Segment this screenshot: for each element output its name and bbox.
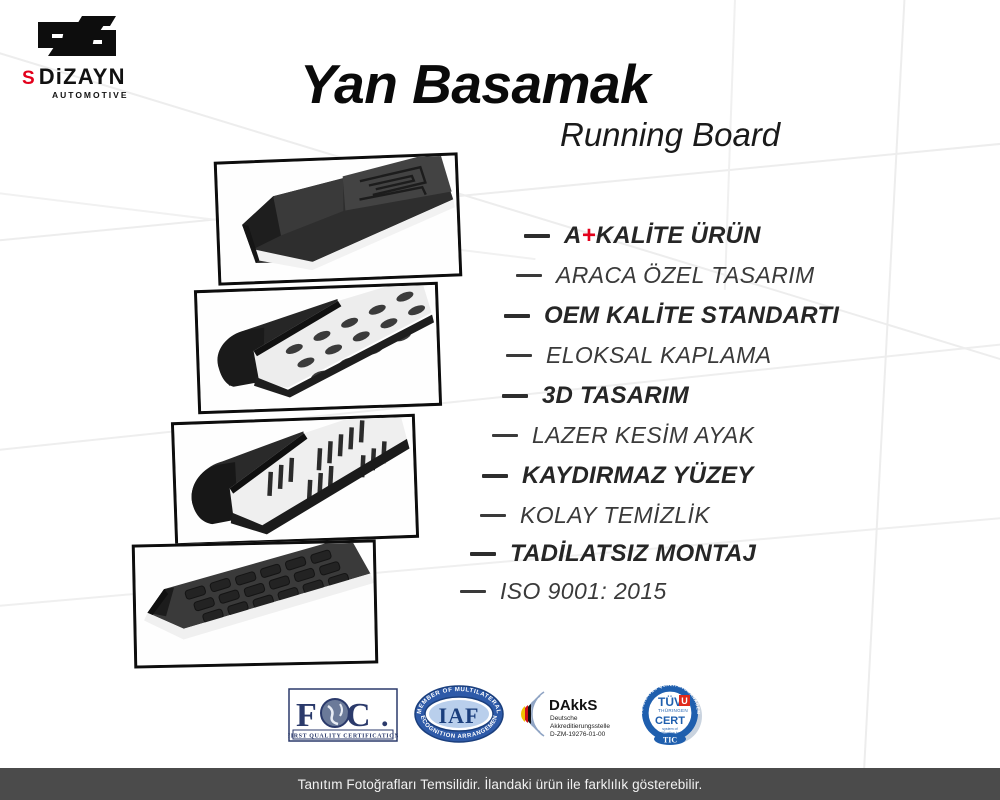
brand-initial: S — [22, 69, 35, 88]
feature-label: ARACA ÖZEL TASARIM — [556, 262, 815, 289]
feature-label: OEM KALİTE STANDARTI — [544, 302, 839, 330]
feature-item-8: KOLAY TEMİZLİK — [480, 502, 710, 529]
svg-text:Deutsche: Deutsche — [550, 715, 578, 722]
dash-bullet-icon — [460, 590, 486, 594]
dash-bullet-icon — [482, 474, 508, 478]
fqc-badge: F C . FIRST QUALITY CERTIFICATION — [288, 688, 398, 742]
svg-text:Akkreditierungsstelle: Akkreditierungsstelle — [550, 723, 610, 730]
brand-tagline: AUTOMOTIVE — [52, 90, 129, 100]
svg-text:TÜV: TÜV — [658, 694, 682, 709]
svg-text:D-ZM-19276-01-00: D-ZM-19276-01-00 — [550, 731, 606, 738]
s-monogram-icon — [32, 14, 122, 69]
feature-label: ISO 9001: 2015 — [500, 578, 667, 605]
svg-text:THÜRINGEN: THÜRINGEN — [658, 707, 688, 713]
svg-text:IAF: IAF — [439, 703, 480, 728]
dash-bullet-icon — [470, 552, 496, 556]
feature-item-9: TADİLATSIZ MONTAJ — [470, 540, 756, 568]
tuv-cert-badge: TÜV U THÜRINGEN CERT system of certifica… — [630, 682, 714, 746]
feature-item-10: ISO 9001: 2015 — [460, 578, 667, 605]
svg-text:CERT: CERT — [655, 715, 685, 727]
svg-text:DAkkS: DAkkS — [549, 697, 597, 714]
dash-bullet-icon — [524, 234, 550, 238]
dash-bullet-icon — [502, 394, 528, 398]
brand-wordmark: S DiZAYN — [22, 66, 126, 88]
product-image-2 — [194, 282, 442, 414]
feature-item-4: ELOKSAL KAPLAMA — [506, 342, 771, 369]
iaf-badge: IAF MEMBER OF MULTILATERAL RECOGNITION A… — [413, 684, 505, 744]
feature-label: LAZER KESİM AYAK — [532, 422, 754, 449]
feature-item-1: A+KALİTE ÜRÜN — [524, 222, 761, 250]
dash-bullet-icon — [480, 514, 506, 518]
dash-bullet-icon — [492, 434, 518, 438]
page-subtitle: Running Board — [560, 116, 780, 154]
footer-bar: Tanıtım Fotoğrafları Temsilidir. İlandak… — [0, 768, 1000, 800]
certification-badges: F C . FIRST QUALITY CERTIFICATION IAF — [288, 684, 718, 746]
brand-logo: S DiZAYN AUTOMOTIVE — [22, 14, 172, 94]
feature-item-7: KAYDIRMAZ YÜZEY — [482, 462, 753, 490]
poster-canvas: S DiZAYN AUTOMOTIVE Yan Basamak Running … — [0, 0, 1000, 800]
feature-item-2: ARACA ÖZEL TASARIM — [516, 262, 815, 289]
product-image-3 — [171, 414, 419, 546]
product-image-1 — [214, 152, 463, 285]
dash-bullet-icon — [516, 274, 542, 278]
feature-label: ELOKSAL KAPLAMA — [546, 342, 771, 369]
brand-name: DiZAYN — [39, 66, 126, 88]
feature-label: TADİLATSIZ MONTAJ — [510, 540, 756, 568]
feature-label: 3D TASARIM — [542, 382, 689, 410]
feature-label: A+KALİTE ÜRÜN — [564, 222, 761, 250]
svg-text:F: F — [296, 697, 317, 734]
dash-bullet-icon — [504, 314, 530, 318]
feature-item-3: OEM KALİTE STANDARTI — [504, 302, 839, 330]
product-image-4 — [132, 539, 379, 668]
svg-text:.: . — [381, 700, 389, 733]
svg-text:C: C — [346, 697, 371, 734]
feature-item-5: 3D TASARIM — [502, 382, 689, 410]
feature-label: KOLAY TEMİZLİK — [520, 502, 710, 529]
footer-disclaimer: Tanıtım Fotoğrafları Temsilidir. İlandak… — [298, 777, 703, 792]
svg-text:U: U — [681, 696, 688, 706]
svg-text:FIRST QUALITY CERTIFICATION: FIRST QUALITY CERTIFICATION — [288, 734, 398, 740]
feature-item-6: LAZER KESİM AYAK — [492, 422, 754, 449]
svg-text:TIC: TIC — [663, 736, 677, 745]
dash-bullet-icon — [506, 354, 532, 358]
dakks-badge: DAkkS Deutsche Akkreditierungsstelle D-Z… — [520, 686, 640, 742]
page-title: Yan Basamak — [300, 52, 650, 116]
feature-list: A+KALİTE ÜRÜN ARACA ÖZEL TASARIM OEM KAL… — [452, 222, 972, 594]
feature-label: KAYDIRMAZ YÜZEY — [522, 462, 753, 490]
plus-accent: + — [582, 222, 596, 249]
